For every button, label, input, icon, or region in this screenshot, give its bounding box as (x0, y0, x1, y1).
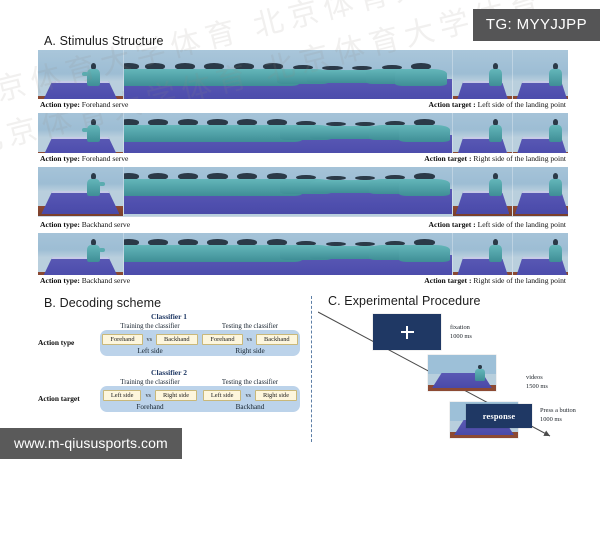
classifier-title: Classifier 2 (38, 368, 300, 377)
response-step-name: Press a button (540, 407, 576, 416)
vs-label: vs (147, 336, 153, 343)
test-right-chip[interactable]: Backhand (256, 334, 298, 345)
videos-step-name: videos (526, 374, 548, 383)
action-type-value: Backhand serve (82, 220, 130, 229)
classifier-column-headers: Training the classifier Testing the clas… (100, 379, 300, 386)
stimulus-filmstrip-row (38, 160, 568, 217)
panel-b-heading: B. Decoding scheme (44, 296, 161, 310)
videos-duration: 1500 ms (526, 383, 548, 392)
action-target-value: Right side of the landing point (473, 154, 566, 163)
player-body (489, 69, 502, 86)
filmstrip-frames (38, 160, 568, 216)
train-header: Training the classifier (100, 323, 200, 330)
video-screen-back (428, 355, 496, 391)
test-pair: Left side vs Right side (200, 390, 300, 401)
player-body (549, 245, 562, 262)
decoding-scheme-panel: Classifier 1 Training the classifier Tes… (38, 312, 300, 440)
player-arm (82, 128, 88, 132)
player-body (395, 69, 446, 86)
panel-divider (311, 296, 312, 442)
player-figure (86, 173, 100, 195)
player-body (87, 179, 100, 196)
action-type-caption: Action type: Forehand serve (40, 154, 128, 163)
stimulus-row-caption: Action type: Forehand serve Action targe… (38, 99, 568, 113)
video-frame (38, 50, 124, 106)
test-footer: Right side (200, 347, 300, 355)
fixation-duration: 1000 ms (450, 333, 472, 342)
stimulus-row-caption: Action type: Backhand serve Action targe… (38, 275, 568, 289)
action-type-label: Action type: (40, 100, 80, 109)
player-figure (397, 119, 453, 141)
player-figure (488, 119, 502, 141)
action-target-caption: Action target : Left side of the landing… (428, 220, 566, 229)
player-body (399, 179, 450, 196)
action-type-label: Action type: (40, 220, 80, 229)
video-frame (513, 226, 568, 282)
player-figure (393, 63, 449, 85)
classifier-row-label: Action type (38, 338, 98, 347)
videos-label: videos 1500 ms (526, 374, 548, 391)
stimulus-row-caption: Action type: Forehand serve Action targe… (38, 153, 568, 167)
player-figure (397, 173, 453, 195)
video-frame (453, 160, 512, 216)
video-frame (38, 226, 124, 282)
filmstrip-frames (38, 50, 568, 106)
classifier-band: Forehand vs Backhand Left side Forehand … (100, 330, 300, 356)
classifier-column-headers: Training the classifier Testing the clas… (100, 323, 300, 330)
train-half: Left side vs Right side Forehand (100, 390, 200, 411)
fixation-label: fixation 1000 ms (450, 324, 472, 341)
train-header: Training the classifier (100, 379, 200, 386)
vs-label: vs (247, 336, 253, 343)
vs-label: vs (245, 392, 251, 399)
experimental-procedure-panel: fixation 1000 ms videos 1500 ms response… (318, 308, 600, 442)
player-figure (549, 239, 563, 261)
player-figure (488, 63, 502, 85)
action-type-label: Action type: (40, 154, 80, 163)
player-figure (86, 63, 100, 85)
video-frame (453, 50, 512, 106)
action-target-value: Left side of the landing point (478, 220, 566, 229)
filmstrip-frames (38, 226, 568, 282)
net (48, 133, 114, 139)
action-type-value: Forehand serve (82, 100, 129, 109)
stimulus-row-caption: Action type: Backhand serve Action targe… (38, 219, 568, 233)
response-label: Press a button 1000 ms (540, 407, 576, 424)
response-duration: 1000 ms (540, 416, 576, 425)
test-half: Left side vs Right side Backhand (200, 390, 300, 411)
action-type-caption: Action type: Forehand serve (40, 100, 128, 109)
player-figure (397, 239, 453, 261)
player-arm (99, 248, 105, 252)
player-figure (549, 119, 563, 141)
train-right-chip[interactable]: Right side (155, 390, 197, 401)
test-left-chip[interactable]: Forehand (202, 334, 242, 345)
video-frame-sequence (124, 226, 454, 282)
fixation-screen (373, 314, 441, 350)
player-arm (99, 182, 105, 186)
video-frame (453, 226, 512, 282)
test-pair: Forehand vs Backhand (200, 334, 300, 345)
video-frame-sequence (124, 160, 454, 216)
fixation-cross-icon (401, 326, 414, 339)
action-target-label: Action target : (424, 154, 471, 163)
video-frame (38, 160, 124, 216)
vs-label: vs (145, 392, 151, 399)
player-body (489, 125, 502, 142)
player-body (549, 125, 562, 142)
video-frame (513, 50, 568, 106)
action-target-caption: Action target : Right side of the landin… (424, 276, 566, 285)
player-figure (86, 239, 100, 261)
test-left-chip[interactable]: Left side (203, 390, 242, 401)
net (48, 187, 114, 193)
player-body (549, 69, 562, 86)
net (48, 253, 114, 259)
response-screen[interactable]: response (466, 404, 532, 428)
action-target-label: Action target : (424, 276, 471, 285)
train-pair: Forehand vs Backhand (100, 334, 200, 345)
test-half: Forehand vs Backhand Right side (200, 334, 300, 355)
train-pair: Left side vs Right side (100, 390, 200, 401)
panel-a-heading: A. Stimulus Structure (44, 34, 164, 48)
response-button-label: response (483, 412, 516, 421)
action-type-label: Action type: (40, 276, 80, 285)
action-target-label: Action target : (428, 100, 475, 109)
player-body (489, 245, 502, 262)
action-target-value: Right side of the landing point (473, 276, 566, 285)
player-figure (488, 173, 502, 195)
train-left-chip[interactable]: Left side (103, 390, 142, 401)
player-figure (549, 63, 563, 85)
player-body (87, 125, 100, 142)
player-figure (475, 365, 485, 380)
train-footer: Left side (100, 347, 200, 355)
action-target-caption: Action target : Right side of the landin… (424, 154, 566, 163)
telegram-watermark-badge: TG: MYYJJPP (473, 9, 600, 41)
action-target-label: Action target : (428, 220, 475, 229)
player-arm (82, 72, 88, 76)
action-type-caption: Action type: Backhand serve (40, 276, 130, 285)
table-tennis-table (41, 191, 119, 214)
video-frame-sequence (124, 50, 454, 106)
player-body (87, 245, 100, 262)
classifier-band: Left side vs Right side Forehand Left si… (100, 386, 300, 412)
player-body (475, 369, 484, 381)
classifier-title: Classifier 1 (38, 312, 300, 321)
test-right-chip[interactable]: Right side (255, 390, 297, 401)
player-body (549, 179, 562, 196)
test-footer: Backhand (200, 403, 300, 411)
classifier-2-block: Classifier 2 Training the classifier Tes… (38, 368, 300, 412)
action-type-value: Backhand serve (82, 276, 130, 285)
classifier-1-block: Classifier 1 Training the classifier Tes… (38, 312, 300, 356)
action-target-caption: Action target : Left side of the landing… (428, 100, 566, 109)
player-figure (86, 119, 100, 141)
player-figure (488, 239, 502, 261)
train-left-chip[interactable]: Forehand (102, 334, 142, 345)
fixation-step-name: fixation (450, 324, 472, 333)
player-body (399, 125, 450, 142)
action-target-value: Left side of the landing point (478, 100, 566, 109)
classifier-row-label: Action target (38, 394, 98, 403)
test-header: Testing the classifier (200, 379, 300, 386)
action-type-caption: Action type: Backhand serve (40, 220, 130, 229)
website-watermark-badge: www.m-qiususports.com (0, 428, 182, 459)
player-body (87, 69, 100, 86)
net (48, 77, 114, 83)
player-body (489, 179, 502, 196)
player-body (399, 245, 450, 262)
player-figure (549, 173, 563, 195)
train-right-chip[interactable]: Backhand (156, 334, 198, 345)
train-footer: Forehand (100, 403, 200, 411)
action-type-value: Forehand serve (82, 154, 129, 163)
video-frame (513, 160, 568, 216)
test-header: Testing the classifier (200, 323, 300, 330)
train-half: Forehand vs Backhand Left side (100, 334, 200, 355)
panel-c-heading: C. Experimental Procedure (328, 294, 481, 308)
